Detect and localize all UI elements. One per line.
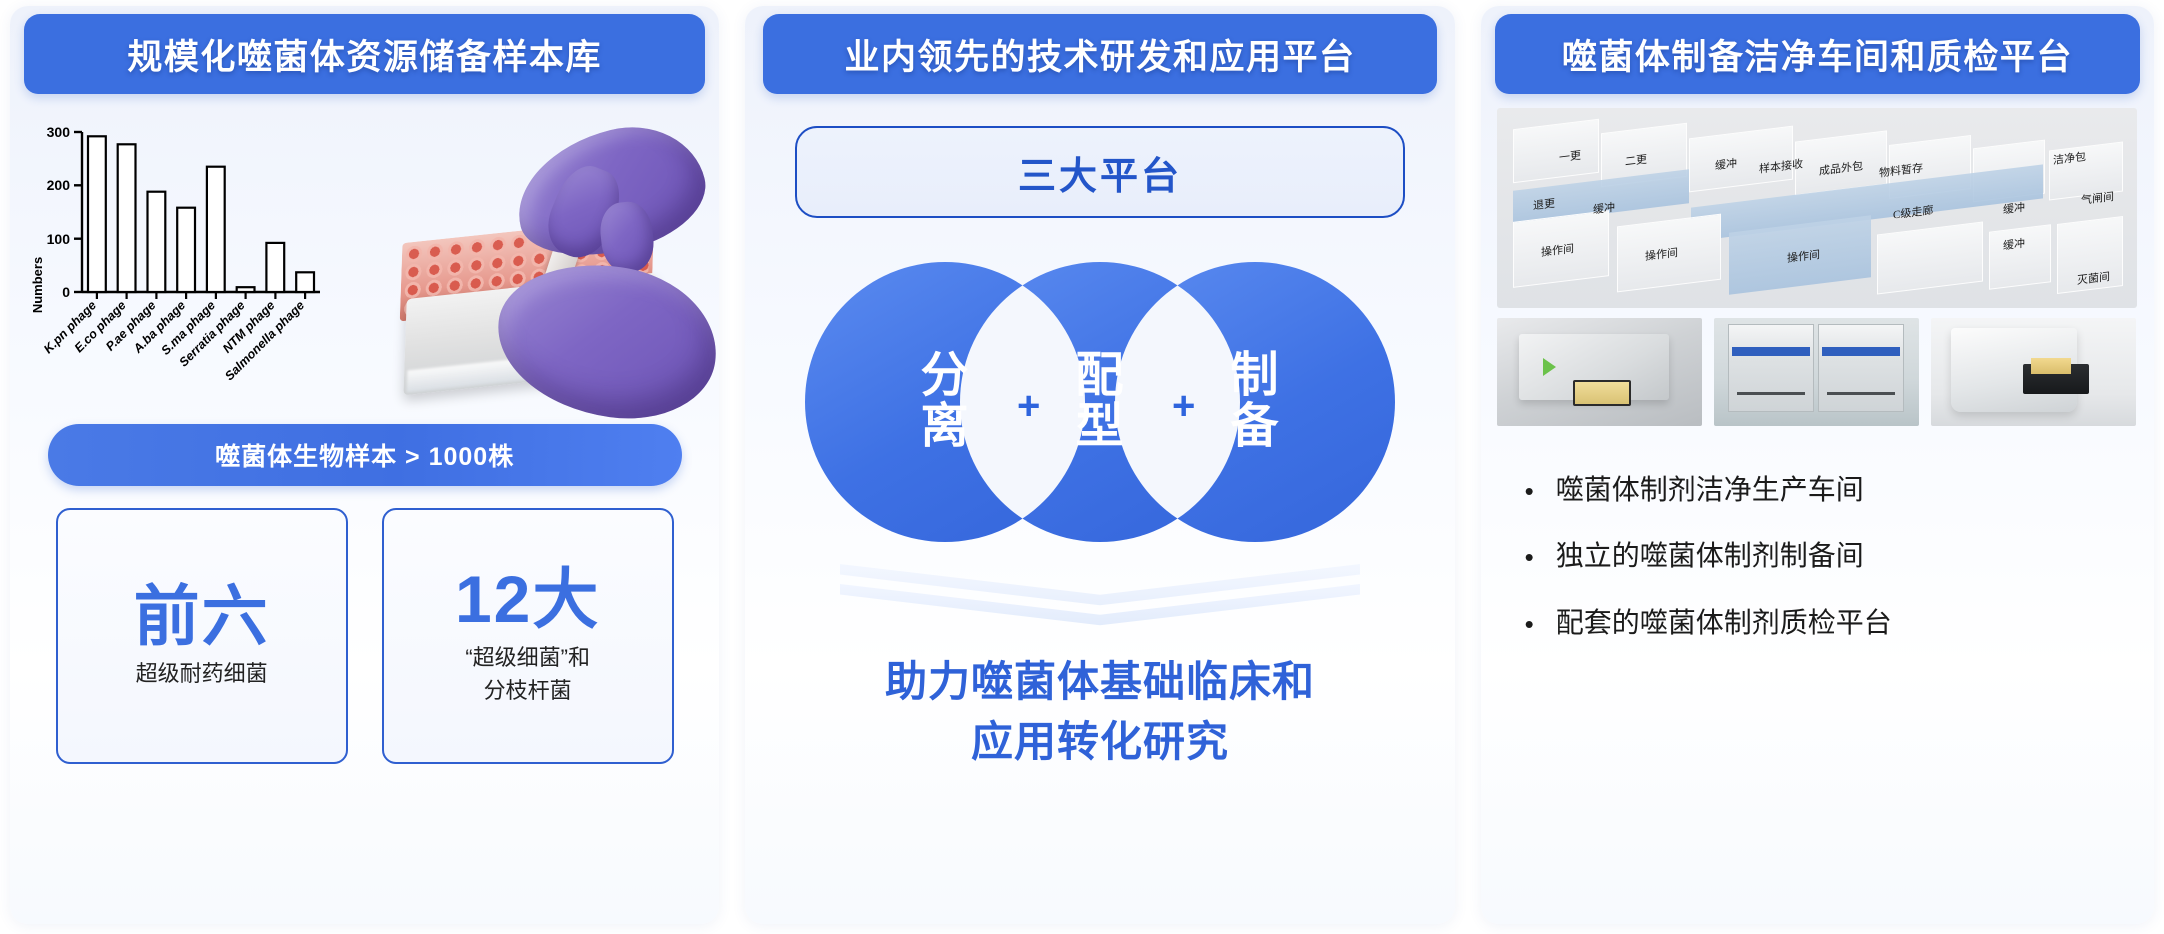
bar-7 <box>296 272 314 292</box>
venn-match-char1: 配 <box>1075 349 1124 402</box>
phage-bar-chart: Numbers 0 100 200 300 <box>10 110 719 410</box>
stat-twelve-label-line1: “超级细菌”和 <box>465 645 590 670</box>
stat-twelve-label-line2: 分枝杆菌 <box>484 678 572 703</box>
bullet-text-3: 配套的噬菌体制剂质检平台 <box>1556 605 1892 641</box>
plus-icon-1: + <box>1017 386 1040 426</box>
floorplan-label-9: 缓冲 <box>1593 199 1615 218</box>
floorplan-label-8: 退更 <box>1533 195 1555 214</box>
venn-diagram: 分 离 配 型 制 备 <box>795 262 1405 542</box>
floorplan-label-2: 二更 <box>1625 151 1647 170</box>
bullet-text-2: 独立的噬菌体制剂制备间 <box>1556 538 1864 574</box>
stat-top-six-value: 前六 <box>134 582 270 651</box>
left-panel-title: 规模化噬菌体资源储备样本库 <box>127 29 602 80</box>
gloved-hands-cryo-box-photo <box>401 132 711 404</box>
bullet-marker-icon: • <box>1525 478 1534 504</box>
right-panel-body: 一更 二更 缓冲 样本接收 成品外包 物料暂存 洁净包 退更 缓冲 C级走廊 缓… <box>1481 94 2154 641</box>
floorplan-label-12: 缓冲 <box>2003 235 2025 254</box>
three-platform-label: 三大平台 <box>1018 145 1182 200</box>
ytick-0: 0 <box>62 284 70 300</box>
bullet-text-1: 噬菌体制剂洁净生产车间 <box>1556 472 1864 508</box>
floorplan-label-3: 缓冲 <box>1715 155 1737 174</box>
biosafety-cabinets-photo <box>1714 318 1919 426</box>
bar-4 <box>207 167 225 292</box>
floorplan-label-10: C级走廊 <box>1893 202 1933 223</box>
floorplan-label-13: 气闸间 <box>2081 188 2114 208</box>
mid-panel-footer-text: 助力噬菌体基础临床和 应用转化研究 <box>779 652 1420 771</box>
three-platform-box: 三大平台 <box>795 126 1405 218</box>
bar-5 <box>237 287 255 292</box>
ytick-300: 300 <box>47 124 71 140</box>
x-tick-labels: K.pn phageE.co phageP.ae phageA.ba phage… <box>41 298 307 383</box>
venn-prep-char1: 制 <box>1230 349 1279 402</box>
venn-match-char2: 型 <box>1075 400 1124 453</box>
venn-label-separation: 分 离 <box>920 351 969 453</box>
sample-count-label: 噬菌体生物样本 > 1000株 <box>215 437 514 473</box>
venn-circle-preparation: 制 备 <box>1115 262 1395 542</box>
sample-count-pill: 噬菌体生物样本 > 1000株 <box>48 424 682 486</box>
cleanroom-floorplan-render: 一更 二更 缓冲 样本接收 成品外包 物料暂存 洁净包 退更 缓冲 C级走廊 缓… <box>1497 108 2137 308</box>
bar-2 <box>148 192 166 292</box>
y-ticks: 0 100 200 300 <box>47 124 82 300</box>
bar-1 <box>118 144 136 292</box>
list-item: • 独立的噬菌体制剂制备间 <box>1525 538 2138 574</box>
bullet-marker-icon: • <box>1525 544 1534 570</box>
panel-technology-platform: 业内领先的技术研发和应用平台 三大平台 分 离 配 型 <box>745 6 1454 924</box>
stat-box-top-six: 前六 超级耐药细菌 <box>56 508 348 764</box>
bar-6 <box>266 243 284 292</box>
venn-label-preparation: 制 备 <box>1230 351 1279 453</box>
bullet-marker-icon: • <box>1525 611 1534 637</box>
floorplan-label-1: 一更 <box>1559 147 1581 166</box>
list-item: • 配套的噬菌体制剂质检平台 <box>1525 605 2138 641</box>
plate-reader-instrument-photo <box>1497 318 1702 426</box>
mid-footer-line2: 应用转化研究 <box>971 718 1229 765</box>
floorplan-label-11: 缓冲 <box>2003 199 2025 218</box>
venn-sep-char1: 分 <box>920 349 969 402</box>
bar-0 <box>88 136 106 292</box>
venn-sep-char2: 离 <box>920 400 969 453</box>
plus-icon-2: + <box>1172 386 1195 426</box>
cleanroom-bullet-list: • 噬菌体制剂洁净生产车间 • 独立的噬菌体制剂制备间 • 配套的噬菌体制剂质检… <box>1497 472 2138 641</box>
equipment-photo-row <box>1497 318 2138 426</box>
panel-sample-library: 规模化噬菌体资源储备样本库 Numbers 0 100 200 <box>10 6 719 924</box>
venn-label-matching: 配 型 <box>1075 351 1124 453</box>
chart-ylabel: Numbers <box>30 257 45 313</box>
stat-twelve-label: “超级细菌”和 分枝杆菌 <box>465 641 590 707</box>
venn-prep-char2: 备 <box>1230 400 1279 453</box>
stat-twelve-value: 12大 <box>455 565 600 634</box>
ytick-200: 200 <box>47 177 71 193</box>
liquid-handler-instrument-photo <box>1931 318 2136 426</box>
bar-series <box>88 136 314 292</box>
right-panel-header: 噬菌体制备洁净车间和质检平台 <box>1495 14 2140 94</box>
panel-cleanroom: 噬菌体制备洁净车间和质检平台 一更 <box>1481 6 2154 924</box>
mid-panel-title: 业内领先的技术研发和应用平台 <box>844 29 1355 80</box>
down-chevrons <box>840 564 1360 638</box>
list-item: • 噬菌体制剂洁净生产车间 <box>1525 472 2138 508</box>
mid-panel-header: 业内领先的技术研发和应用平台 <box>763 14 1436 94</box>
stat-box-row: 前六 超级耐药细菌 12大 “超级细菌”和 分枝杆菌 <box>45 508 685 764</box>
ytick-100: 100 <box>47 231 71 247</box>
mid-panel-body: 三大平台 分 离 配 型 制 <box>745 126 1454 771</box>
bar-chart-svg: Numbers 0 100 200 300 <box>20 110 450 410</box>
stat-top-six-label: 超级耐药细菌 <box>136 657 268 690</box>
left-panel-header: 规模化噬菌体资源储备样本库 <box>24 14 705 94</box>
bar-3 <box>177 208 195 292</box>
slide-root: 规模化噬菌体资源储备样本库 Numbers 0 100 200 <box>0 0 2164 934</box>
right-panel-title: 噬菌体制备洁净车间和质检平台 <box>1562 29 2073 80</box>
mid-footer-line1: 助力噬菌体基础临床和 <box>885 658 1315 705</box>
stat-box-twelve: 12大 “超级细菌”和 分枝杆菌 <box>382 508 674 764</box>
chevron-down-icon-2 <box>840 584 1360 632</box>
chevron-down-icon-1 <box>840 564 1360 612</box>
